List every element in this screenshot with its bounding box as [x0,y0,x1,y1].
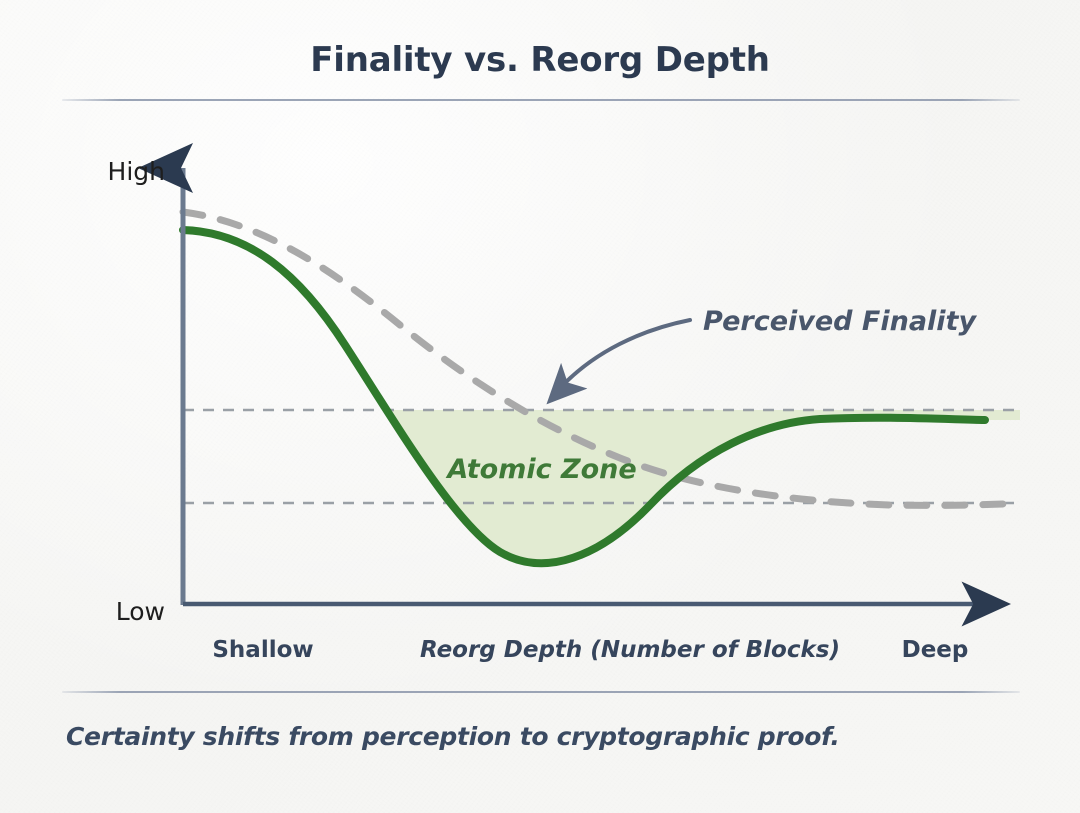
slide-canvas: Finality vs. Reorg Depth [0,0,1080,813]
x-axis-title: Reorg Depth (Number of Blocks) [420,637,840,663]
atomic-zone-region [183,230,1020,563]
y-axis-low-label: Low [116,597,165,626]
perceived-finality-pointer-arrow [562,320,690,386]
y-axis-high-label: High [108,157,165,186]
perceived-finality-label: Perceived Finality [703,306,977,337]
figure-caption: Certainty shifts from perception to cryp… [66,722,1026,751]
chart-figure: High Low Shallow Reorg Depth (Number of … [0,0,1080,813]
x-axis-deep-label: Deep [902,637,969,663]
atomic-zone-label: Atomic Zone [445,454,636,485]
x-axis-shallow-label: Shallow [212,637,313,663]
